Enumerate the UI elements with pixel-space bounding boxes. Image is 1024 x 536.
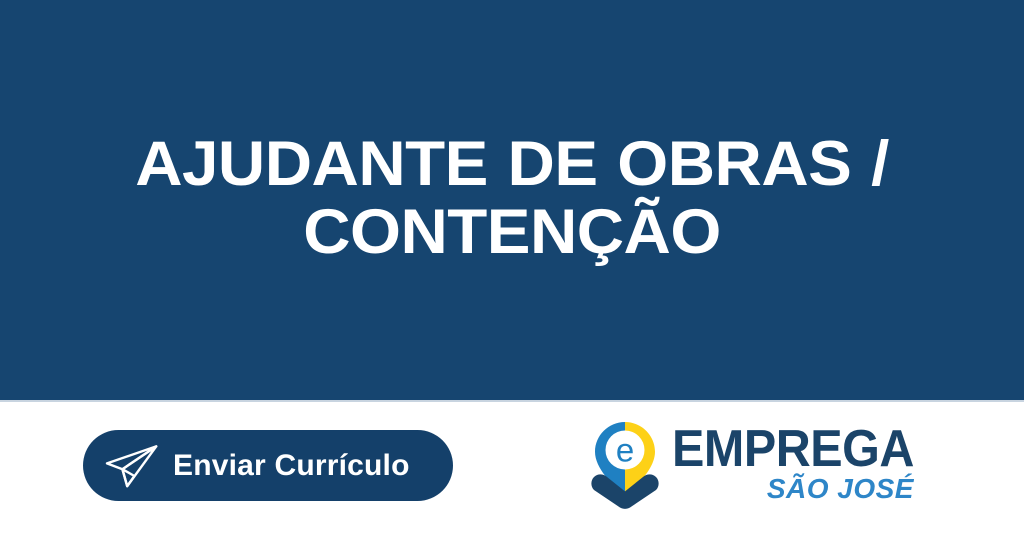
footer-bar: Enviar Currículo e EMPREGA (0, 402, 1024, 536)
emprega-sao-jose-logo[interactable]: e EMPREGA SÃO JOSÉ (588, 418, 918, 518)
hero-banner: AJUDANTE DE OBRAS / CONTENÇÃO (0, 0, 1024, 402)
logo-wordmark-emprega: EMPREGA (672, 422, 914, 474)
send-resume-label: Enviar Currículo (173, 451, 410, 481)
logo-wordmark-group: EMPREGA SÃO JOSÉ (672, 418, 914, 504)
svg-text:EMPREGA: EMPREGA (672, 422, 914, 474)
job-title: AJUDANTE DE OBRAS / CONTENÇÃO (117, 130, 907, 266)
map-pin-logo-icon: e (588, 418, 662, 510)
logo-subtitle-sao-jose: SÃO JOSÉ (736, 472, 914, 504)
job-vacancy-poster: AJUDANTE DE OBRAS / CONTENÇÃO Enviar Cur… (0, 0, 1024, 536)
pin-letter-e: e (616, 432, 634, 469)
send-resume-button[interactable]: Enviar Currículo (83, 430, 453, 501)
paper-plane-icon (103, 443, 159, 489)
svg-text:SÃO JOSÉ: SÃO JOSÉ (767, 473, 914, 504)
